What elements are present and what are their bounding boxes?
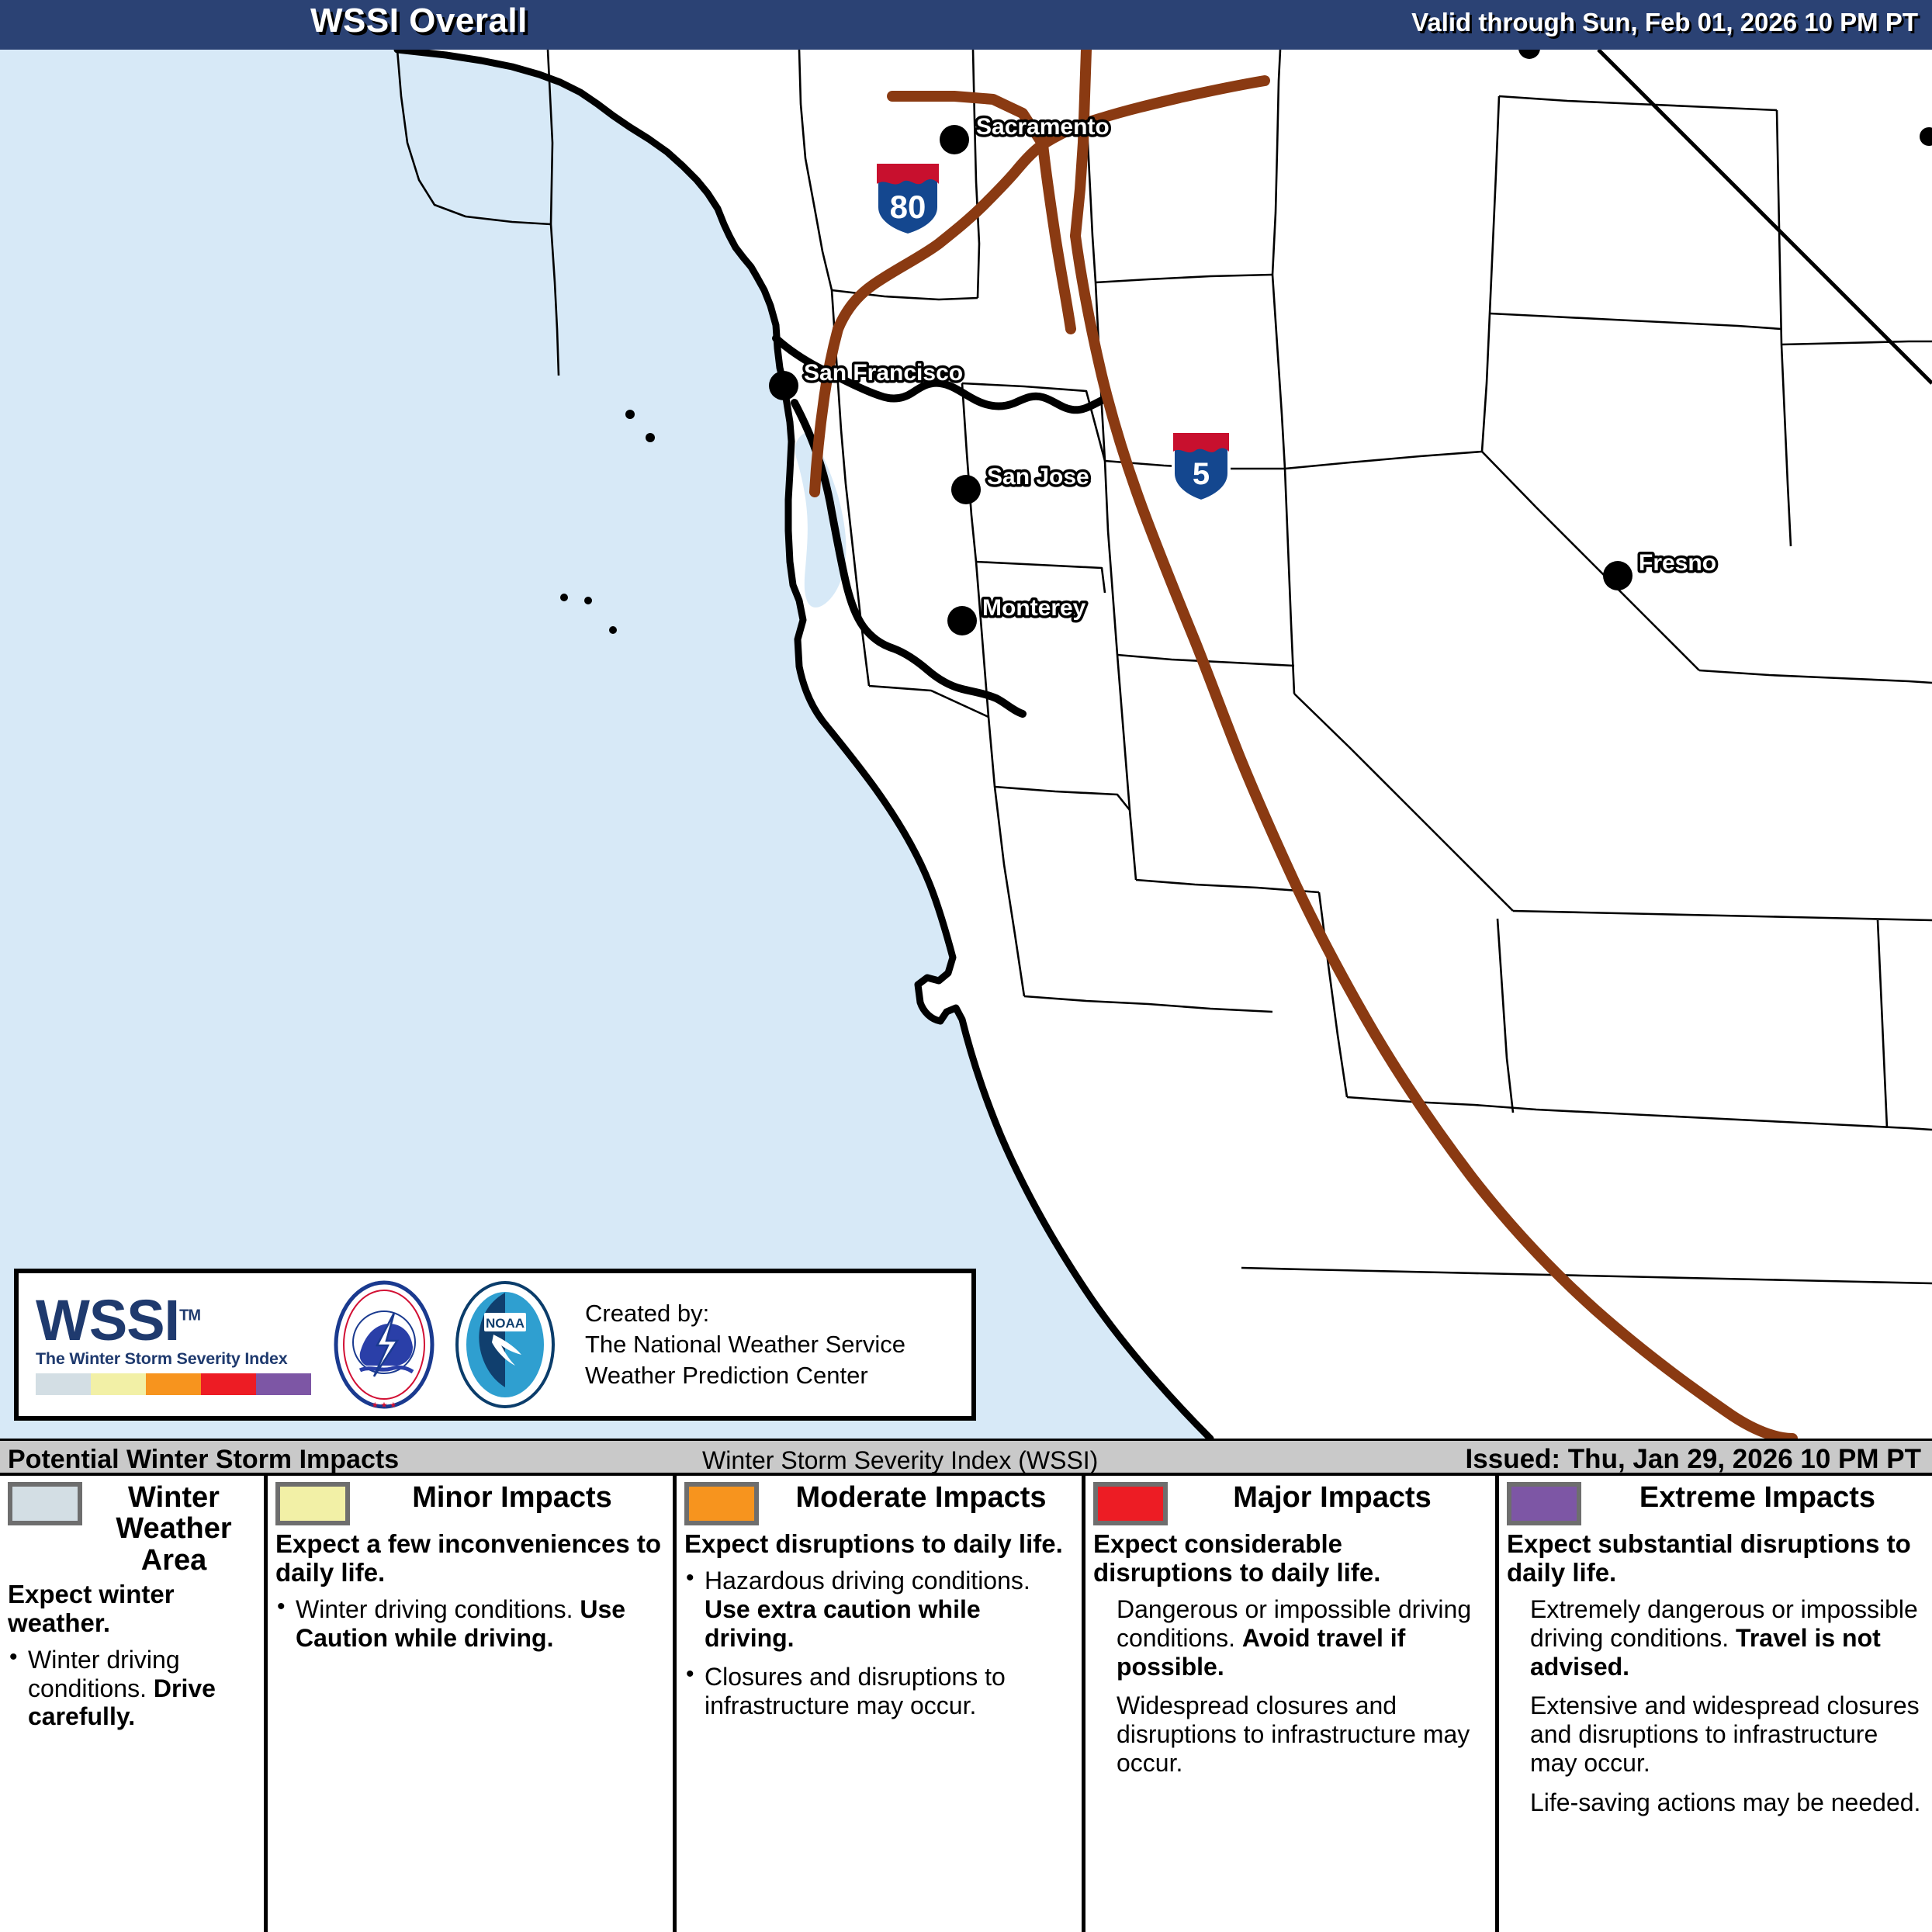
city-dot-sacramento: [940, 125, 969, 154]
legend-header: Major Impacts: [1093, 1482, 1487, 1525]
island-dot: [646, 433, 655, 442]
list-item: Hazardous driving conditions. Use extra …: [684, 1567, 1074, 1652]
national-weather-service-logo: ★ ★ ★: [326, 1279, 442, 1411]
created-by-line-3: Weather Prediction Center: [585, 1360, 905, 1391]
noaa-logo-text: NOAA: [486, 1316, 525, 1331]
wssi-word-text: WSSI: [36, 1288, 179, 1352]
legend-summary-extreme-impacts: Expect substantial disruptions to daily …: [1507, 1530, 1924, 1587]
noaa-logo: NOAA: [447, 1279, 563, 1411]
impact-legend: Winter Weather Area Expect winter weathe…: [0, 1476, 1932, 1932]
wssi-tagline: The Winter Storm Severity Index: [36, 1349, 321, 1369]
scale-swatch-major: [201, 1373, 256, 1395]
legend-summary-moderate-impacts: Expect disruptions to daily life.: [684, 1530, 1074, 1559]
island-dot: [560, 594, 568, 601]
legend-bullets-winter-weather-area: Winter driving conditions. Drive careful…: [8, 1646, 256, 1731]
legend-column-winter-weather-area: Winter Weather Area Expect winter weathe…: [0, 1476, 268, 1932]
list-item: Winter driving conditions. Use Caution w…: [275, 1595, 665, 1653]
legend-header: Moderate Impacts: [684, 1482, 1074, 1525]
legend-bullets-major-impacts: Dangerous or impossible driving conditio…: [1093, 1595, 1487, 1778]
highway-shield-5: 5: [1173, 433, 1229, 501]
list-item: Extremely dangerous or impossible drivin…: [1507, 1595, 1924, 1681]
legend-column-moderate-impacts: Moderate Impacts Expect disruptions to d…: [677, 1476, 1085, 1932]
city-dot-san-francisco: [769, 371, 798, 400]
map-canvas[interactable]: 80 5 Sacramento San Francisco San Jose F…: [0, 50, 1932, 1439]
legend-swatch-major-impacts: [1093, 1482, 1168, 1525]
wssi-logo-box: WSSITM The Winter Storm Severity Index ★: [14, 1269, 976, 1421]
legend-bullets-extreme-impacts: Extremely dangerous or impossible drivin…: [1507, 1595, 1924, 1817]
status-product-name: Winter Storm Severity Index (WSSI): [702, 1446, 1098, 1475]
agency-logos: ★ ★ ★ NOAA: [321, 1279, 563, 1411]
city-label-san-jose: San Jose: [987, 464, 1089, 490]
city-label-san-francisco: San Francisco: [804, 360, 963, 386]
city-label-sacramento: Sacramento: [976, 114, 1110, 140]
wssi-overall-map-page: WSSI Overall Valid through Sun, Feb 01, …: [0, 0, 1932, 1932]
svg-text:★ ★ ★: ★ ★ ★: [372, 1401, 396, 1410]
trademark-symbol: TM: [179, 1307, 200, 1324]
shield-number: 80: [890, 189, 926, 225]
list-item: Dangerous or impossible driving conditio…: [1093, 1595, 1487, 1681]
scale-swatch-minor: [91, 1373, 146, 1395]
legend-title-extreme-impacts: Extreme Impacts: [1591, 1482, 1924, 1513]
list-item: Closures and disruptions to infrastructu…: [684, 1663, 1074, 1720]
status-issued-time: Issued: Thu, Jan 29, 2026 10 PM PT: [1466, 1444, 1921, 1475]
legend-title-minor-impacts: Minor Impacts: [359, 1482, 665, 1513]
list-item: Extensive and widespread closures and di…: [1507, 1691, 1924, 1777]
title-bar: WSSI Overall Valid through Sun, Feb 01, …: [0, 0, 1932, 50]
legend-summary-winter-weather-area: Expect winter weather.: [8, 1581, 256, 1638]
legend-summary-major-impacts: Expect considerable disruptions to daily…: [1093, 1530, 1487, 1587]
legend-swatch-winter-weather-area: [8, 1482, 82, 1525]
city-dot-monterey: [947, 606, 977, 635]
wssi-severity-color-bar: [36, 1373, 311, 1395]
legend-header: Extreme Impacts: [1507, 1482, 1924, 1525]
wssi-wordmark: WSSITM The Winter Storm Severity Index: [19, 1294, 321, 1394]
status-bar: Potential Winter Storm Impacts Winter St…: [0, 1439, 1932, 1476]
list-item: Widespread closures and disruptions to i…: [1093, 1691, 1487, 1777]
legend-column-major-impacts: Major Impacts Expect considerable disrup…: [1085, 1476, 1499, 1932]
status-potential-impacts-label: Potential Winter Storm Impacts: [8, 1445, 399, 1475]
legend-title-winter-weather-area: Winter Weather Area: [92, 1482, 256, 1576]
valid-through-text: Valid through Sun, Feb 01, 2026 10 PM PT: [1411, 8, 1918, 37]
legend-title-major-impacts: Major Impacts: [1177, 1482, 1487, 1513]
shield-number: 5: [1193, 457, 1210, 491]
legend-swatch-moderate-impacts: [684, 1482, 759, 1525]
legend-swatch-minor-impacts: [275, 1482, 350, 1525]
island-dot: [584, 597, 592, 604]
created-by-block: Created by: The National Weather Service…: [563, 1298, 905, 1390]
city-label-monterey: Monterey: [982, 595, 1086, 621]
highway-shield-80: 80: [877, 164, 939, 235]
legend-bullets-moderate-impacts: Hazardous driving conditions. Use extra …: [684, 1567, 1074, 1720]
island-dot: [625, 410, 635, 419]
scale-swatch-extreme: [256, 1373, 311, 1395]
legend-header: Winter Weather Area: [8, 1482, 256, 1576]
legend-column-minor-impacts: Minor Impacts Expect a few inconvenience…: [268, 1476, 677, 1932]
legend-swatch-extreme-impacts: [1507, 1482, 1581, 1525]
scale-swatch-moderate: [146, 1373, 201, 1395]
legend-header: Minor Impacts: [275, 1482, 665, 1525]
legend-title-moderate-impacts: Moderate Impacts: [768, 1482, 1074, 1513]
legend-bullets-minor-impacts: Winter driving conditions. Use Caution w…: [275, 1595, 665, 1653]
island-dot: [609, 626, 617, 634]
scale-swatch-winter-weather: [36, 1373, 91, 1395]
list-item: Winter driving conditions. Drive careful…: [8, 1646, 256, 1731]
list-item: Life-saving actions may be needed.: [1507, 1788, 1924, 1817]
created-by-line-1: Created by:: [585, 1298, 905, 1329]
legend-summary-minor-impacts: Expect a few inconveniences to daily lif…: [275, 1530, 665, 1587]
legend-column-extreme-impacts: Extreme Impacts Expect substantial disru…: [1499, 1476, 1932, 1932]
created-by-line-2: The National Weather Service: [585, 1329, 905, 1360]
page-title: WSSI Overall: [310, 2, 528, 40]
city-label-fresno: Fresno: [1639, 550, 1716, 576]
city-dot-san-jose: [951, 475, 981, 504]
city-dot-fresno: [1603, 561, 1633, 590]
wssi-word: WSSITM: [36, 1294, 321, 1347]
